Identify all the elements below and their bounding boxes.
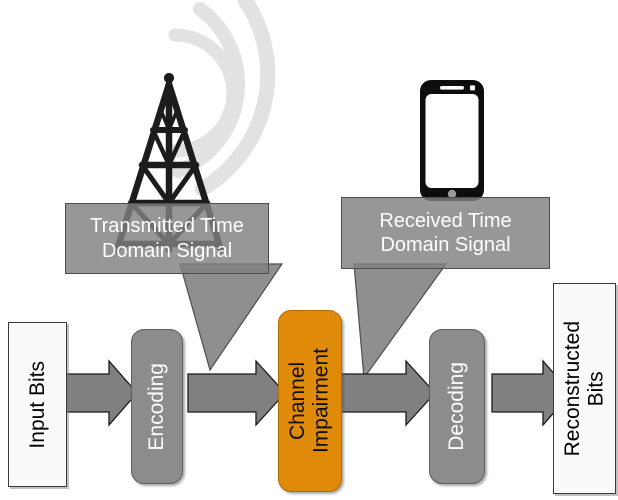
callout-transmitted-signal: Transmitted Time Domain Signal (65, 203, 269, 274)
block-decoding-label: Decoding (445, 362, 469, 451)
callout-transmitted-label: Transmitted Time Domain Signal (90, 214, 244, 263)
arrow-channel-to-decoding (340, 360, 436, 426)
block-encoding-label: Encoding (145, 363, 169, 451)
block-input-bits[interactable]: Input Bits (8, 322, 67, 487)
callout-received-signal: Received Time Domain Signal (341, 197, 550, 269)
arrow-encoding-to-channel (188, 360, 286, 426)
block-encoding[interactable]: Encoding (131, 329, 183, 484)
block-channel-impairment-label: Channel Impairment (286, 348, 333, 453)
block-channel-impairment[interactable]: Channel Impairment (278, 310, 342, 492)
block-decoding[interactable]: Decoding (429, 329, 485, 484)
smartphone-icon (418, 78, 486, 203)
callout-received-label: Received Time Domain Signal (379, 209, 511, 258)
block-reconstructed-bits[interactable]: Reconstructed Bits (553, 283, 616, 494)
block-reconstructed-bits-label: Reconstructed Bits (561, 321, 608, 456)
block-input-bits-label: Input Bits (26, 361, 50, 449)
diagram-canvas: Transmitted Time Domain Signal Received … (0, 0, 618, 500)
arrow-input-to-encoding (58, 360, 138, 426)
callout-tail-transmitted (176, 262, 286, 372)
